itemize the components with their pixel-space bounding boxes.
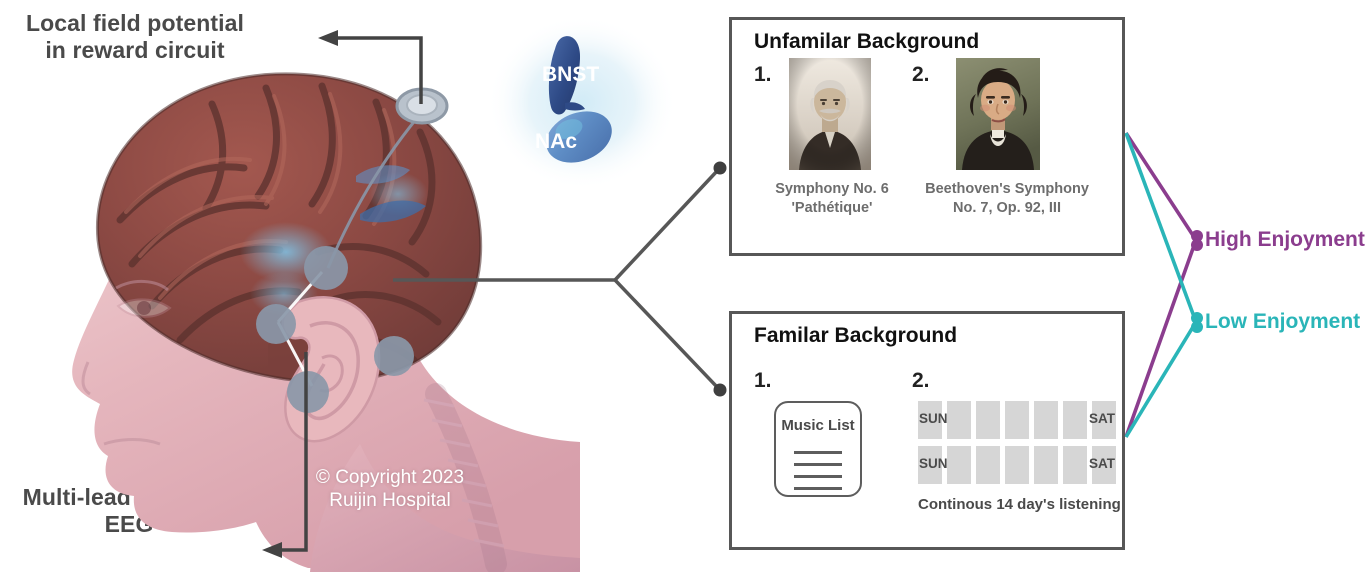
calendar-day-box — [947, 446, 971, 484]
copyright-line1: © Copyright 2023 — [300, 466, 480, 489]
bnst-nac-inset: BNST NAc — [487, 15, 677, 190]
figure-canvas: Local field potential in reward circuit … — [0, 0, 1367, 572]
calendar-day-label-sat: SAT — [1089, 456, 1115, 471]
calendar-day-box: SUN — [918, 446, 942, 484]
beethoven-portrait-image — [956, 58, 1040, 170]
calendar-day-label-sun: SUN — [919, 411, 948, 426]
caption-line1: Beethoven's Symphony — [912, 180, 1102, 199]
music-list-line — [794, 463, 842, 466]
tchaikovsky-portrait-image — [789, 58, 871, 170]
calendar-day-box — [1005, 401, 1029, 439]
calendar-day-box — [1005, 446, 1029, 484]
copyright-line2: Ruijin Hospital — [300, 489, 480, 512]
familiar-item-2-number: 2. — [912, 369, 930, 393]
line-unfamiliar-high — [1126, 133, 1196, 240]
line-familiar-low — [1126, 322, 1196, 437]
outcome-high-enjoyment-label: High Enjoyment — [1205, 228, 1365, 252]
lfp-label-line1: Local field potential — [6, 10, 264, 37]
music-list-title: Music List — [776, 417, 860, 434]
music-list-line — [794, 487, 842, 490]
calendar-week-row-1: SUNSAT — [918, 401, 1116, 439]
nac-label: NAc — [535, 130, 577, 153]
panel-unfamiliar-background[interactable]: Unfamilar Background 1. — [729, 17, 1125, 256]
unfamiliar-item-2-number: 2. — [912, 63, 930, 87]
caption-line2: No. 7, Op. 92, III — [912, 199, 1102, 218]
calendar-day-box: SUN — [918, 401, 942, 439]
calendar-day-box — [1034, 446, 1058, 484]
lfp-electrode — [397, 89, 447, 123]
unfamiliar-item-1-number: 1. — [754, 63, 772, 87]
music-list-line — [794, 451, 842, 454]
line-familiar-high — [1126, 240, 1196, 437]
outcome-low-enjoyment-label: Low Enjoyment — [1205, 310, 1360, 334]
calendar-day-box — [1063, 401, 1087, 439]
calendar-day-box — [976, 446, 1000, 484]
calendar-day-box — [976, 401, 1000, 439]
line-unfamiliar-low — [1126, 133, 1196, 322]
calendar-day-label-sun: SUN — [919, 456, 948, 471]
calendar-day-label-sat: SAT — [1089, 411, 1115, 426]
bnst-label: BNST — [542, 63, 599, 86]
calendar-day-box: SAT — [1092, 446, 1116, 484]
calendar-day-box — [1063, 446, 1087, 484]
caption-line2: 'Pathétique' — [762, 199, 902, 218]
listening-duration-caption: Continous 14 day's listening — [918, 496, 1121, 513]
calendar-day-box: SAT — [1092, 401, 1116, 439]
music-list-document-icon: Music List — [774, 401, 862, 497]
calendar-day-box — [1034, 401, 1058, 439]
calendar-week-row-2: SUNSAT — [918, 446, 1116, 484]
panel-familiar-background[interactable]: Familar Background 1. Music List 2. SUNS… — [729, 311, 1125, 550]
unfamiliar-item-1-caption: Symphony No. 6 'Pathétique' — [762, 180, 902, 218]
unfamiliar-item-2-caption: Beethoven's Symphony No. 7, Op. 92, III — [912, 180, 1102, 218]
panel-unfamiliar-title: Unfamilar Background — [754, 30, 979, 54]
outcome-crossing-lines — [1126, 133, 1203, 437]
copyright-notice: © Copyright 2023 Ruijin Hospital — [300, 466, 480, 512]
nuclei-svg: BNST NAc — [487, 15, 677, 190]
panel-familiar-title: Familar Background — [754, 324, 957, 348]
calendar-day-box — [947, 401, 971, 439]
music-list-line — [794, 475, 842, 478]
caption-line1: Symphony No. 6 — [762, 180, 902, 199]
familiar-item-1-number: 1. — [754, 369, 772, 393]
